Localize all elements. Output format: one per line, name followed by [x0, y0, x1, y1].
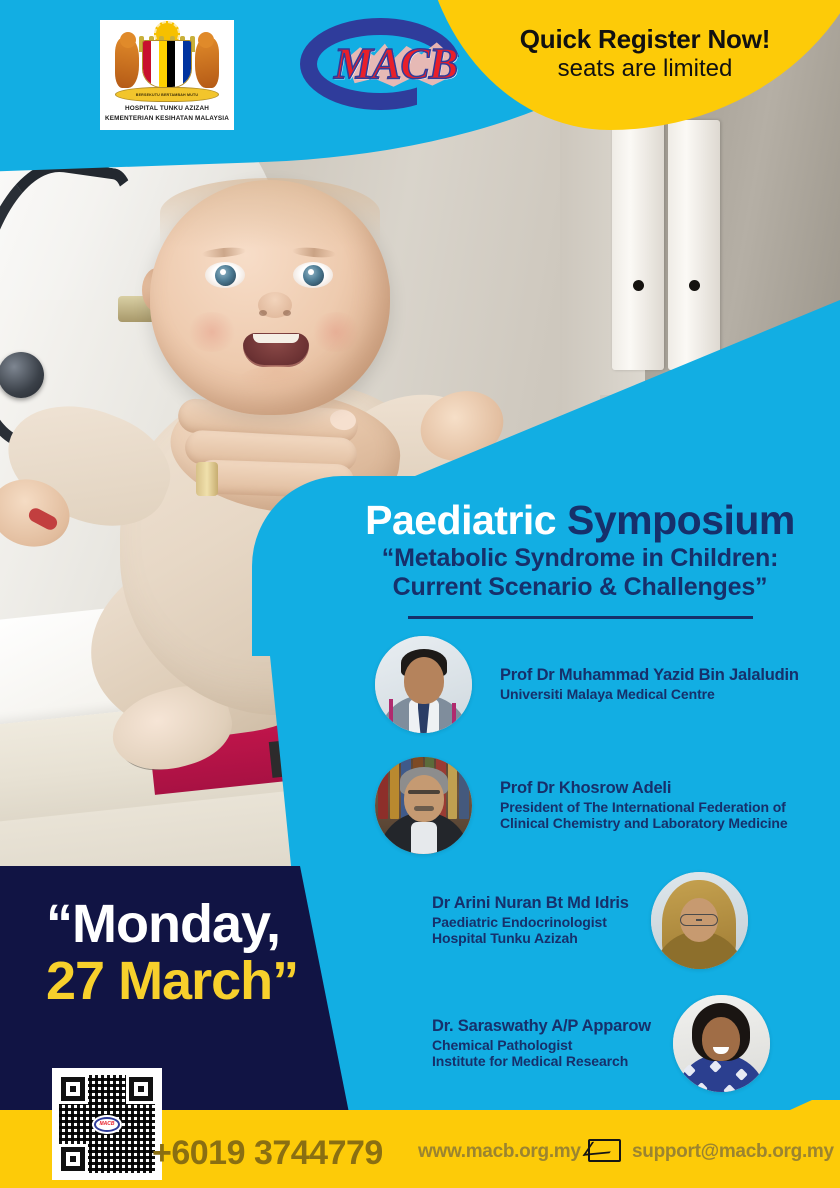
speaker-name: Prof Dr Muhammad Yazid Bin Jalaludin — [500, 666, 799, 686]
speaker-affiliation-1: Universiti Malaya Medical Centre — [500, 686, 799, 703]
photo-baby-hair — [160, 178, 380, 248]
qr-finder-icon — [61, 1147, 85, 1171]
speaker-affiliation-1: Paediatric Endocrinologist — [432, 914, 629, 931]
qr-center-logo: MACB — [92, 1115, 122, 1134]
speaker-entry: Dr Arini Nuran Bt Md Idris Paediatric En… — [432, 872, 748, 969]
shield-icon — [142, 40, 192, 88]
date-line-1: “Monday, — [46, 896, 386, 953]
event-date: “Monday, 27 March” — [46, 896, 386, 1010]
subtitle-line-2: Current Scenario & Challenges” — [330, 573, 830, 602]
qr-finder-icon — [129, 1077, 153, 1101]
photo-baby-eye — [293, 262, 333, 288]
speaker-entry: Prof Dr Khosrow Adeli President of The I… — [375, 757, 788, 854]
qr-code[interactable]: MACB — [52, 1068, 162, 1180]
speaker-entry: Prof Dr Muhammad Yazid Bin Jalaludin Uni… — [375, 636, 799, 733]
title-word-paediatric: Paediatric — [365, 497, 567, 543]
title-word-symposium: Symposium — [567, 497, 795, 543]
subtitle-line-1: “Metabolic Syndrome in Children: — [330, 544, 830, 573]
photo-baby-nostril — [259, 310, 267, 316]
title-block: Paediatric Symposium “Metabolic Syndrome… — [330, 498, 830, 619]
speaker-affiliation-1: Chemical Pathologist — [432, 1037, 651, 1054]
photo-binder — [612, 120, 664, 370]
tiger-supporter-icon — [195, 38, 219, 88]
qr-code-pattern: MACB — [59, 1075, 155, 1173]
register-callout-subline: seats are limited — [480, 55, 810, 83]
hospital-logo: BERSEKUTU BERTAMBAH MUTU HOSPITAL TUNKU … — [100, 20, 234, 130]
ministry-name: KEMENTERIAN KESIHATAN MALAYSIA — [105, 114, 229, 124]
poster-root: “Monday, 27 March” Paediatric Symposium … — [0, 0, 840, 1188]
envelope-icon — [588, 1139, 621, 1162]
register-callout-headline: Quick Register Now! — [480, 24, 810, 55]
footer-content: MACB +6019 3744779 www.macb.org.my suppo… — [0, 1100, 840, 1188]
page-title: Paediatric Symposium — [330, 498, 830, 542]
speaker-info: Dr. Saraswathy A/P Apparow Chemical Path… — [432, 1017, 651, 1070]
qr-finder-icon — [61, 1077, 85, 1101]
date-line-2: 27 March” — [46, 953, 386, 1010]
photo-wedding-ring — [196, 462, 218, 496]
contact-email[interactable]: support@macb.org.my — [632, 1141, 834, 1163]
photo-baby-chin — [238, 366, 314, 396]
hospital-name: HOSPITAL TUNKU AZIZAH — [105, 104, 229, 114]
photo-stethoscope-bell — [0, 352, 44, 398]
speaker-name: Dr. Saraswathy A/P Apparow — [432, 1017, 651, 1037]
title-subtitle: “Metabolic Syndrome in Children: Current… — [330, 544, 830, 602]
contact-website[interactable]: www.macb.org.my — [418, 1141, 581, 1163]
speaker-affiliation-2: Clinical Chemistry and Laboratory Medici… — [500, 815, 788, 832]
speaker-avatar — [673, 995, 770, 1092]
speaker-affiliation-1: President of The International Federatio… — [500, 799, 788, 816]
photo-baby-teeth — [253, 334, 299, 343]
motto-text: BERSEKUTU BERTAMBAH MUTU — [116, 88, 218, 103]
malaysia-coat-of-arms-icon: BERSEKUTU BERTAMBAH MUTU — [111, 24, 223, 102]
speaker-avatar — [651, 872, 748, 969]
tiger-supporter-icon — [115, 38, 139, 88]
motto-ribbon: BERSEKUTU BERTAMBAH MUTU — [115, 87, 219, 102]
photo-baby-nostril — [283, 310, 291, 316]
photo-baby-cheek — [310, 312, 362, 352]
register-callout-text[interactable]: Quick Register Now! seats are limited — [480, 24, 810, 83]
speaker-info: Prof Dr Khosrow Adeli President of The I… — [500, 779, 788, 832]
speaker-info: Dr Arini Nuran Bt Md Idris Paediatric En… — [432, 894, 629, 947]
photo-binder — [668, 120, 720, 370]
speaker-affiliation-2: Hospital Tunku Azizah — [432, 930, 629, 947]
photo-baby-eye — [205, 262, 245, 288]
speaker-info: Prof Dr Muhammad Yazid Bin Jalaludin Uni… — [500, 666, 799, 703]
contact-phone[interactable]: +6019 3744779 — [152, 1134, 383, 1173]
speaker-affiliation-2: Institute for Medical Research — [432, 1053, 651, 1070]
title-divider — [408, 616, 753, 619]
qr-center-logo-text: MACB — [94, 1117, 120, 1132]
speaker-entry: Dr. Saraswathy A/P Apparow Chemical Path… — [432, 995, 770, 1092]
speaker-avatar — [375, 636, 472, 733]
speaker-avatar — [375, 757, 472, 854]
hospital-logo-text: HOSPITAL TUNKU AZIZAH KEMENTERIAN KESIHA… — [105, 104, 229, 123]
speaker-name: Prof Dr Khosrow Adeli — [500, 779, 788, 799]
speaker-name: Dr Arini Nuran Bt Md Idris — [432, 894, 629, 914]
photo-baby-cheek — [186, 312, 238, 352]
